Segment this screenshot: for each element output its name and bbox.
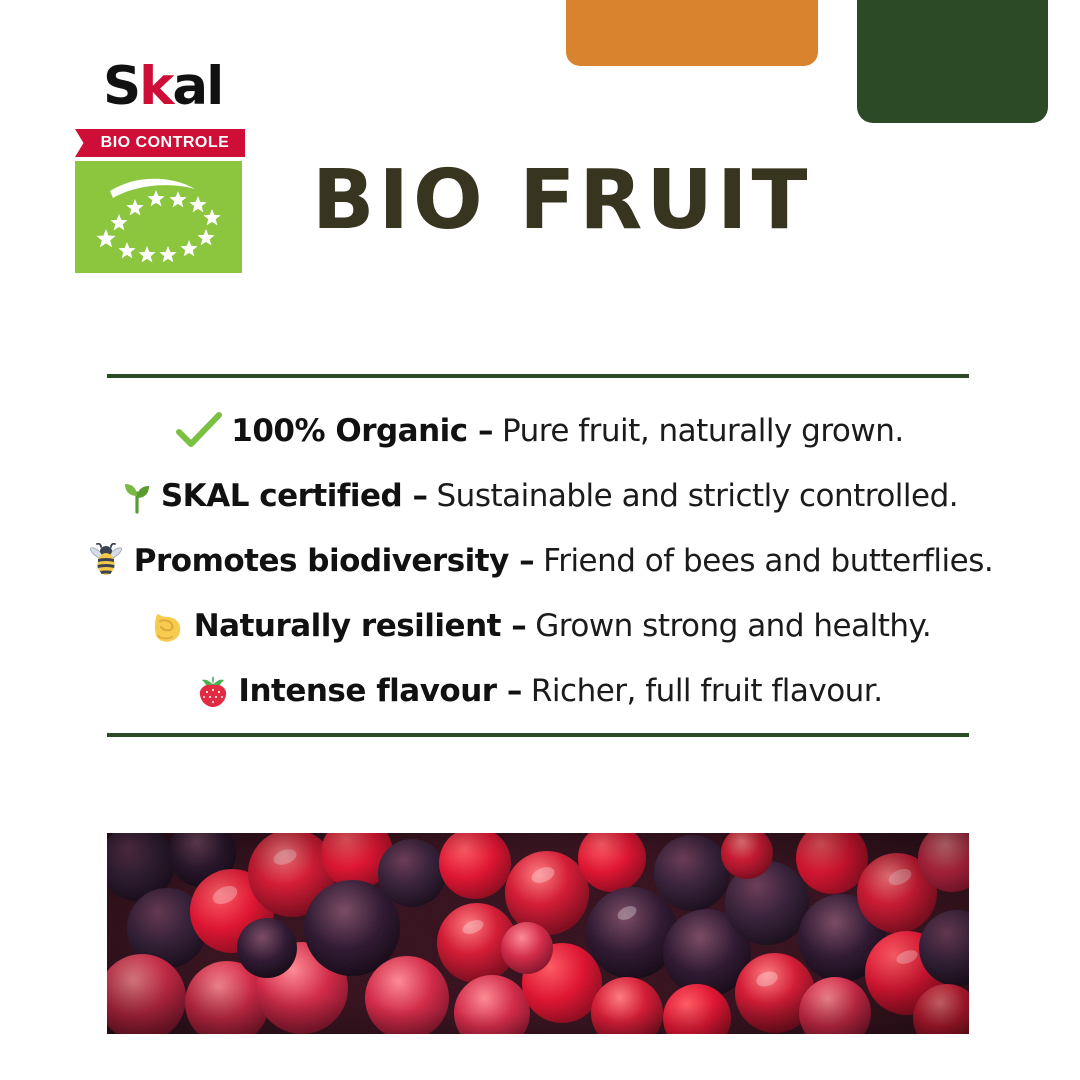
feature-description: Grown strong and healthy. [535,608,931,644]
header: Skal BIO CONTROLE [0,60,1080,290]
honeybee-icon [87,541,125,581]
feature-title: Naturally resilient – [194,608,527,644]
feature-description: Richer, full fruit flavour. [531,673,883,709]
eu-organic-leaf-icon [75,161,242,273]
seedling-icon [122,476,152,516]
skal-letter-k: k [139,56,172,117]
skal-letter-s: S [103,56,139,117]
divider-bottom [107,733,969,737]
strawberry-icon [197,671,229,711]
skal-letters-al: al [172,56,222,117]
skal-wordmark: Skal [75,60,325,118]
product-photo [107,833,969,1034]
page-title: BIO FRUIT [312,160,811,242]
feature-title: Intense flavour – [238,673,521,709]
check-mark-icon [176,411,222,451]
feature-title: Promotes biodiversity – [134,543,534,579]
divider-top [107,374,969,378]
feature-description: Sustainable and strictly controlled. [437,478,959,514]
feature-item-skal-certified: SKAL certified – Sustainable and strictl… [0,463,1080,528]
feature-item-flavour: Intense flavour – Richer, full fruit fla… [0,658,1080,723]
decorative-block-orange [566,0,818,66]
feature-list: 100% Organic – Pure fruit, naturally gro… [0,398,1080,723]
feature-item-biodiversity: Promotes biodiversity – Friend of bees a… [0,528,1080,593]
skal-bio-controle-logo: Skal BIO CONTROLE [75,60,325,273]
feature-description: Friend of bees and butterflies. [543,543,993,579]
flexed-biceps-icon [149,606,185,646]
feature-title: SKAL certified – [161,478,428,514]
feature-title: 100% Organic – [231,413,493,449]
feature-item-resilient: Naturally resilient – Grown strong and h… [0,593,1080,658]
feature-item-organic: 100% Organic – Pure fruit, naturally gro… [0,398,1080,463]
bio-controle-banner: BIO CONTROLE [75,129,245,157]
bio-controle-label: BIO CONTROLE [91,134,230,152]
feature-description: Pure fruit, naturally grown. [502,413,904,449]
